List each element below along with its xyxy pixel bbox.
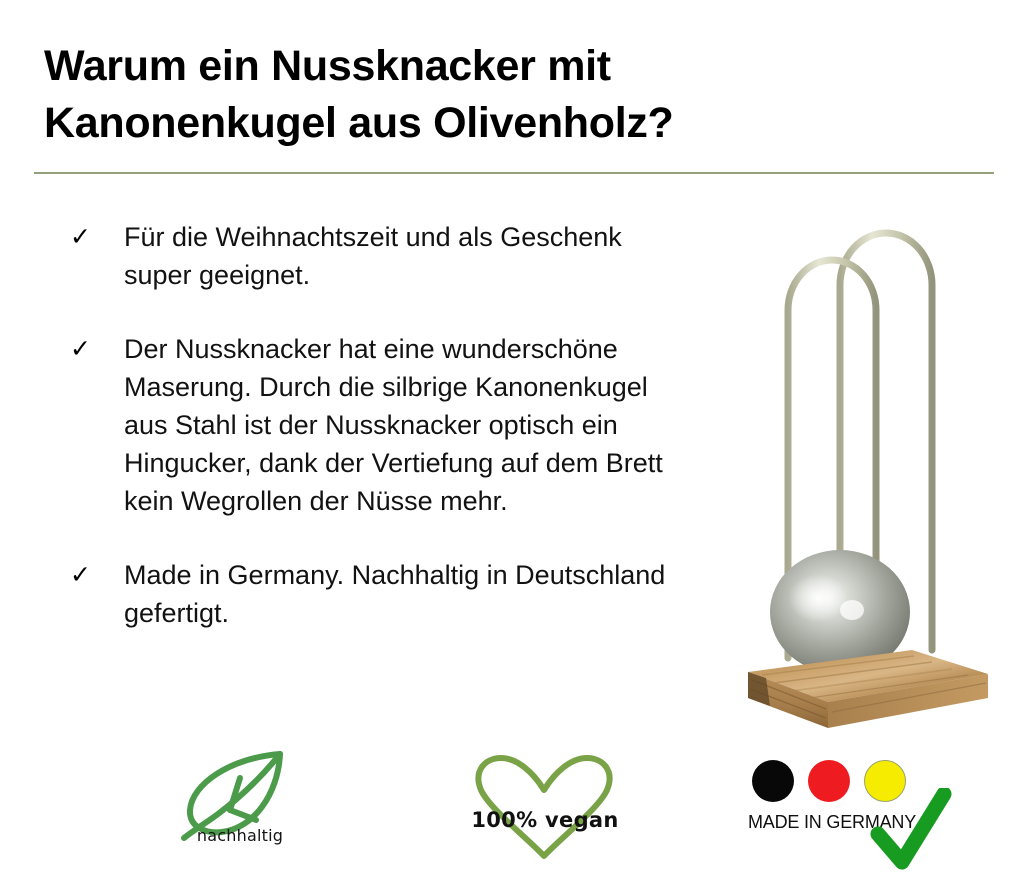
title-divider — [34, 172, 994, 174]
check-icon: ✓ — [70, 330, 124, 368]
list-item: ✓ Für die Weihnachtszeit und als Geschen… — [70, 218, 690, 294]
page-title: Warum ein Nussknacker mit Kanonenkugel a… — [44, 38, 884, 152]
badge-made-in-germany: MADE IN GERMANY — [748, 758, 963, 878]
benefits-list: ✓ Für die Weihnachtszeit und als Geschen… — [70, 218, 690, 632]
vegan-badge-label: 100% vegan — [455, 808, 635, 832]
list-item-label: Für die Weihnachtszeit und als Geschenk … — [124, 218, 690, 294]
check-icon: ✓ — [70, 556, 124, 594]
green-check-icon — [868, 788, 954, 876]
list-item: ✓ Der Nussknacker hat eine wunderschöne … — [70, 330, 690, 520]
list-item-label: Made in Germany. Nachhaltig in Deutschla… — [124, 556, 690, 632]
list-item: ✓ Made in Germany. Nachhaltig in Deutsch… — [70, 556, 690, 632]
title-line-1: Warum ein Nussknacker mit — [44, 38, 884, 95]
list-item-label: Der Nussknacker hat eine wunderschöne Ma… — [124, 330, 690, 520]
flag-dot-red-icon — [808, 760, 850, 802]
flag-dot-black-icon — [752, 760, 794, 802]
badge-sustainable: nachhaltig — [150, 748, 330, 876]
check-icon: ✓ — [70, 218, 124, 256]
infographic-page: Warum ein Nussknacker mit Kanonenkugel a… — [0, 0, 1024, 881]
title-line-2: Kanonenkugel aus Olivenholz? — [44, 95, 884, 152]
badge-vegan: 100% vegan — [455, 752, 635, 878]
product-illustration — [700, 180, 1000, 740]
leaf-badge-label: nachhaltig — [150, 826, 330, 845]
product-image — [700, 180, 1000, 740]
